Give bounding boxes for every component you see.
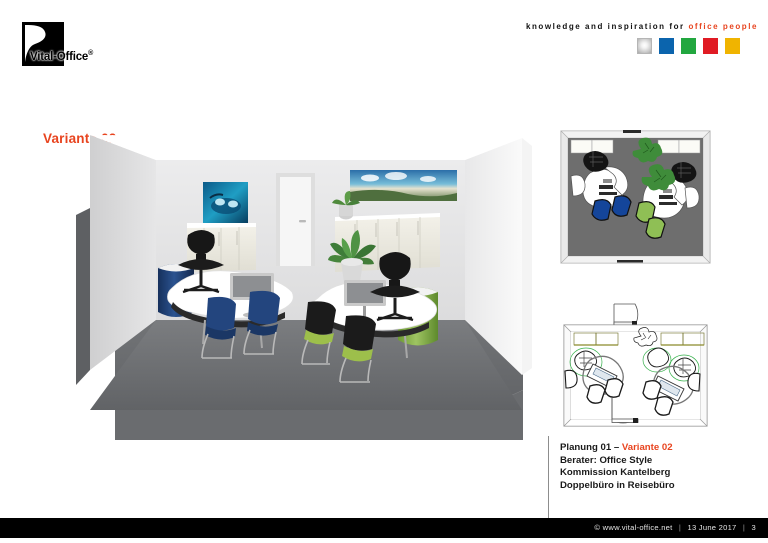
plan-top-chair-blue-2 [612,196,631,216]
swatch-gold [725,38,740,54]
brand-logo[interactable]: Vital-Office® [22,22,82,66]
caption-line-2: Berater: Office Style [560,455,760,468]
office-3d-render [60,120,540,450]
project-caption: Planung 01 – Variante 02 Berater: Office… [560,442,760,492]
swatch-blue [659,38,674,54]
floorplan-cad-line-view[interactable] [557,288,714,430]
footer-meta: © www.vital-office.net | 13 June 2017 | … [594,518,756,538]
page-footer: © www.vital-office.net | 13 June 2017 | … [0,518,768,538]
brand-color-swatches [637,38,740,54]
plan-top-container-right [685,187,699,208]
caption-divider [548,436,549,518]
plan-bottom-door-top [614,304,638,326]
logo-wordmark: Vital-Office® [30,50,93,63]
footer-website[interactable]: www.vital-office.net [603,523,673,532]
swatch-red [703,38,718,54]
plan-top-door-marker-bottom [617,260,643,263]
logo-wordmark-text: Vital-Office [30,51,88,63]
plan-top-chair-blue-1 [592,200,611,221]
caption-line-4: Doppelbüro in Reisebüro [560,480,760,493]
plan-top-door-marker-top [623,130,641,133]
plan-top-chair-green-2 [646,218,665,238]
door-handle [299,220,306,222]
caption-plan: Planung 01 – [560,442,622,453]
plan-bottom-canvas [557,288,714,430]
swatch-silver [637,38,652,54]
copyright-symbol: © [594,523,600,532]
floorplan-rendered-top-view[interactable] [557,127,714,267]
caption-variant: Variante 02 [622,442,673,453]
footer-separator-1: | [675,523,685,532]
right-wall-edge [522,138,532,375]
render-canvas [60,120,540,450]
header-tagline: knowledge and inspiration for office peo… [526,22,758,31]
caption-line-3: Kommission Kantelberg [560,467,760,480]
plan-top-canvas [557,127,714,267]
footer-date: 13 June 2017 [688,523,737,532]
swatch-green [681,38,696,54]
tagline-accent: office people [689,22,759,31]
ceiling [90,135,522,160]
left-wall-edge [76,208,90,385]
footer-separator-2: | [739,523,749,532]
registered-mark: ® [88,50,93,57]
page-header: Vital-Office® knowledge and inspiration … [0,0,768,100]
tagline-plain: knowledge and inspiration for [526,22,685,31]
caption-line-1: Planung 01 – Variante 02 [560,442,760,455]
door-leaf [280,177,311,266]
footer-page-number: 3 [752,523,756,532]
plan-top-container-left [571,175,585,196]
